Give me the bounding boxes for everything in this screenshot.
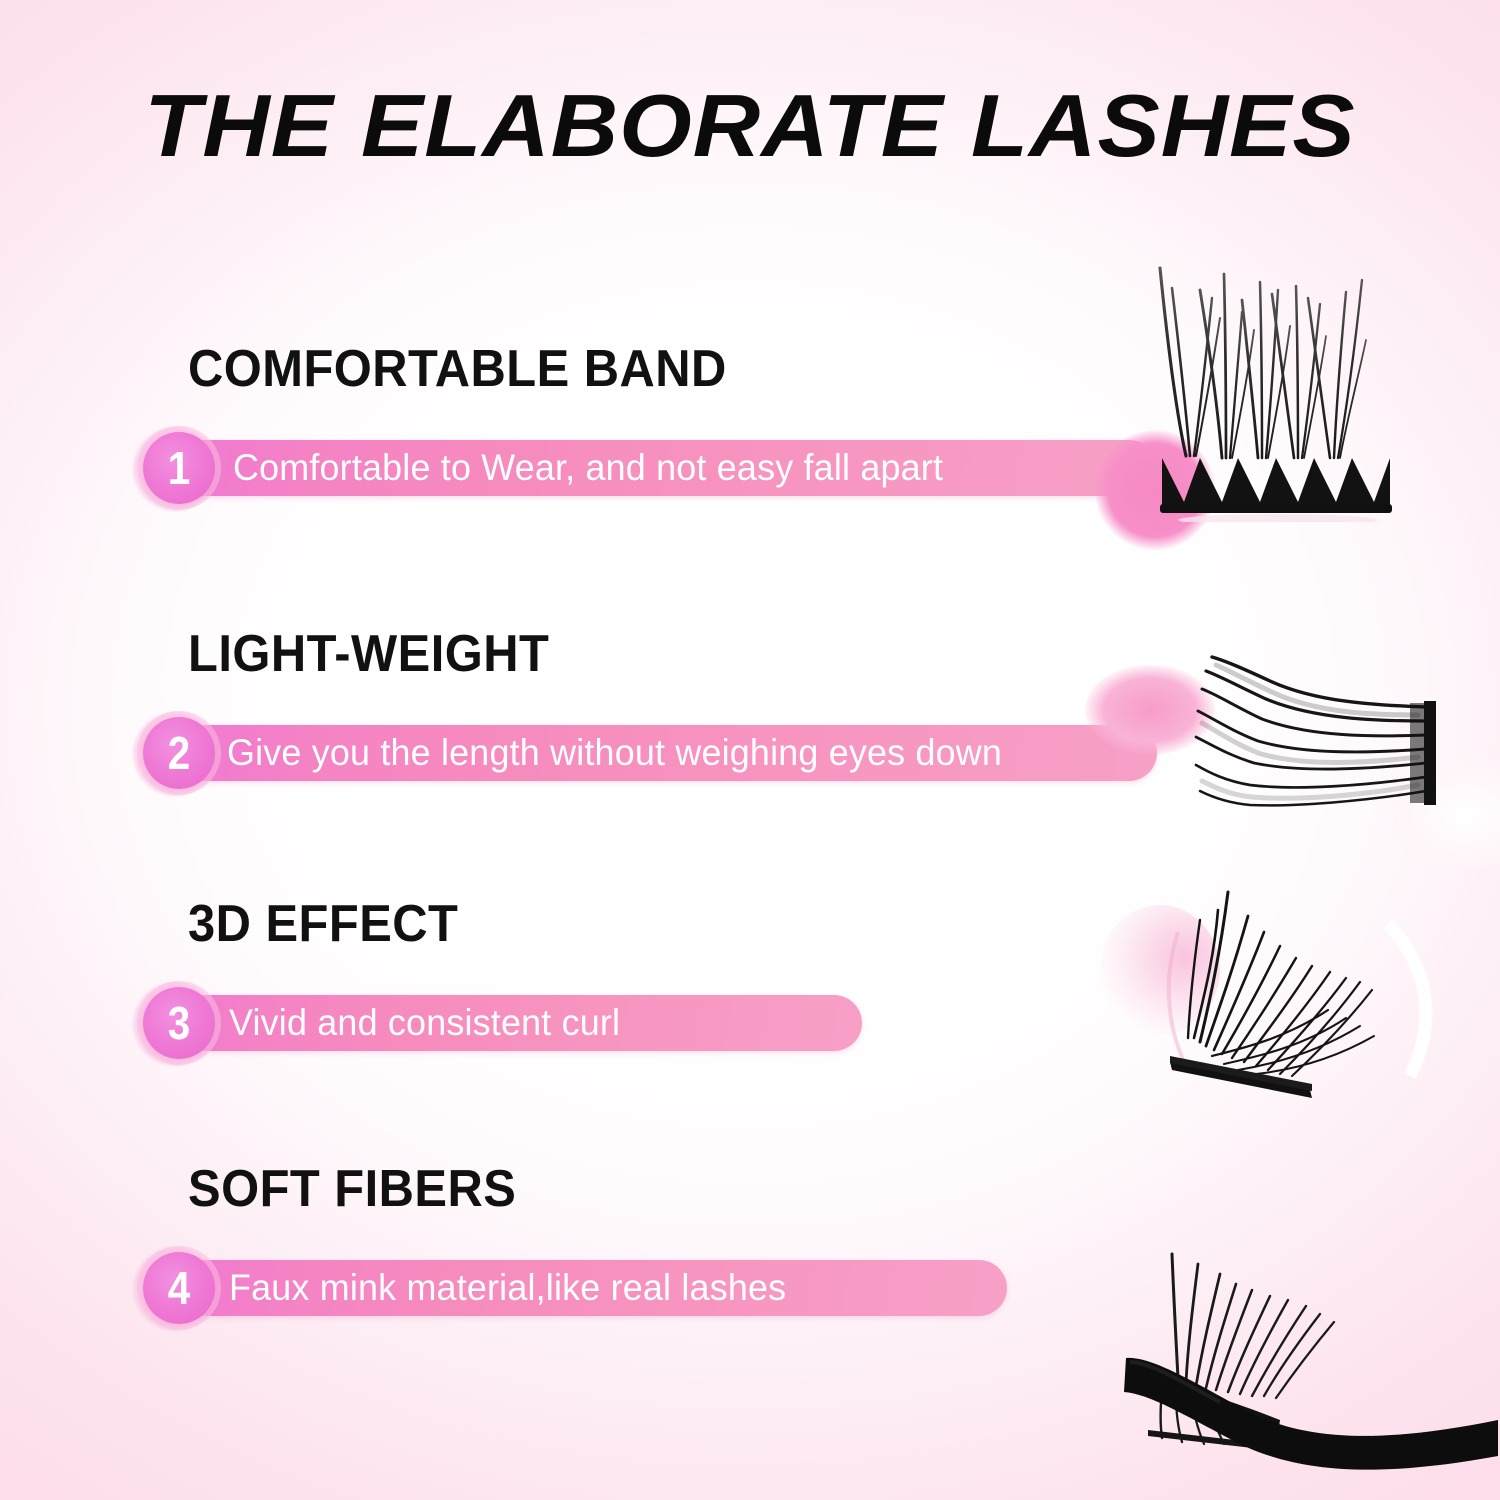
lash-cluster-strip-front-view (1150, 252, 1410, 522)
feature-heading-3: 3D EFFECT (188, 898, 458, 950)
lash-strip-angled-view (1160, 880, 1460, 1110)
product-infographic-poster: THE ELABORATE LASHES COMFORTABLE BAND 1 … (0, 0, 1500, 1500)
lash-held-by-tweezers (1120, 1230, 1500, 1490)
feature-heading-4: SOFT FIBERS (188, 1163, 516, 1215)
feature-number-badge-1: 1 (143, 432, 215, 504)
white-glow-blob-2 (1390, 760, 1500, 870)
feature-description-2: Give you the length without weighing eye… (227, 725, 1002, 781)
lash-strip-side-view (1178, 645, 1458, 845)
feature-number-2: 2 (147, 717, 210, 789)
feature-heading-2: LIGHT-WEIGHT (188, 628, 549, 680)
feature-description-3: Vivid and consistent curl (229, 995, 620, 1051)
feature-heading-1: COMFORTABLE BAND (188, 343, 727, 395)
feature-number-3: 3 (147, 987, 210, 1059)
feature-description-1: Comfortable to Wear, and not easy fall a… (233, 440, 943, 496)
feature-number-badge-2: 2 (143, 717, 215, 789)
feature-number-badge-3: 3 (143, 987, 215, 1059)
feature-number-4: 4 (147, 1252, 210, 1324)
feature-number-1: 1 (147, 432, 210, 504)
pink-swoosh-3 (1100, 905, 1220, 1035)
page-title: THE ELABORATE LASHES (0, 82, 1500, 170)
feature-description-4: Faux mink material,like real lashes (229, 1260, 786, 1316)
feature-number-badge-4: 4 (143, 1252, 215, 1324)
